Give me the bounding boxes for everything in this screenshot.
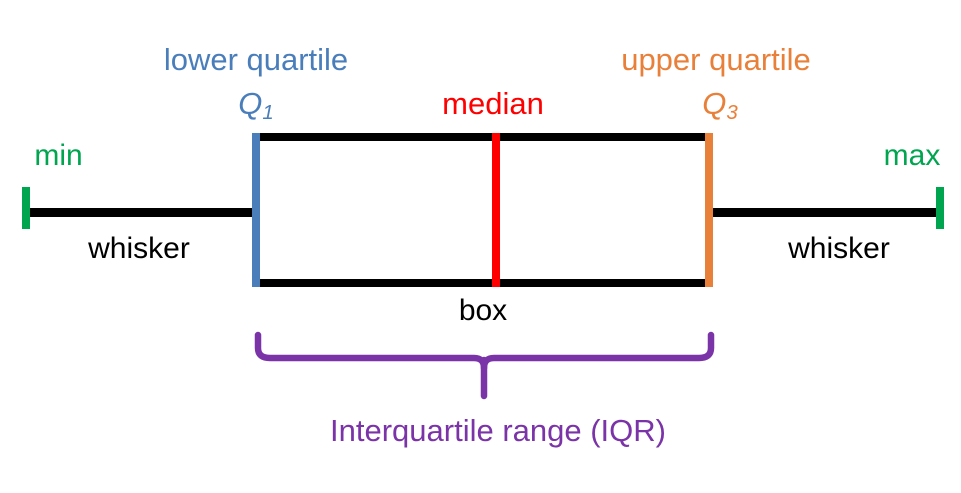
whisker-right-label: whisker bbox=[749, 234, 929, 264]
iqr-brace bbox=[248, 328, 720, 402]
q3-subscript: 3 bbox=[726, 101, 737, 124]
iqr-label: Interquartile range (IQR) bbox=[248, 415, 748, 446]
box-label: box bbox=[383, 296, 583, 326]
upper-quartile-label: upper quartile bbox=[461, 44, 961, 75]
lower-quartile-line bbox=[252, 133, 260, 287]
whisker-line-left bbox=[25, 208, 257, 217]
q1-subscript: 1 bbox=[262, 101, 273, 124]
upper-quartile-line bbox=[705, 133, 713, 287]
min-cap-marker bbox=[22, 187, 30, 229]
boxplot-diagram: lower quartile Q1 median upper quartile … bbox=[0, 0, 961, 493]
q3-symbol-label: Q3 bbox=[465, 88, 961, 119]
box-top-edge bbox=[252, 133, 713, 141]
min-label: min bbox=[0, 141, 117, 171]
q3-letter: Q bbox=[702, 86, 726, 121]
box-bottom-edge bbox=[252, 279, 713, 287]
lower-quartile-label: lower quartile bbox=[0, 44, 512, 75]
q1-letter: Q bbox=[238, 86, 262, 121]
max-cap-marker bbox=[936, 187, 944, 229]
whisker-left-label: whisker bbox=[49, 234, 229, 264]
median-line bbox=[492, 133, 500, 287]
whisker-line-right bbox=[709, 208, 941, 217]
max-label: max bbox=[852, 141, 961, 171]
